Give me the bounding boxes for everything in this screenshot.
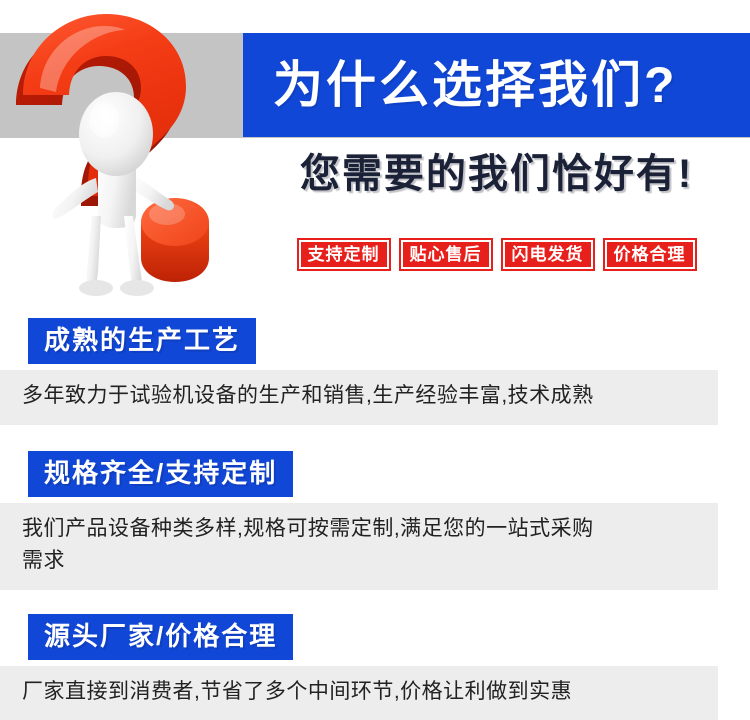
feature-body-factory-price: 厂家直接到消费者,节省了多个中间环节,价格让利做到实惠 [0, 666, 718, 720]
badge-after-sales: 贴心售后 [399, 238, 493, 271]
hero-banner: 为什么选择我们? [243, 33, 750, 137]
badge-custom-support: 支持定制 [297, 238, 391, 271]
feature-section-specifications: 规格齐全/支持定制 我们产品设备种类多样,规格可按需定制,满足您的一站式采购 需… [0, 451, 750, 590]
feature-sections: 成熟的生产工艺 多年致力于试验机设备的生产和销售,生产经验丰富,技术成熟 规格齐… [0, 318, 750, 720]
question-mark-dot-shape [141, 198, 209, 282]
feature-section-craftsmanship: 成熟的生产工艺 多年致力于试验机设备的生产和销售,生产经验丰富,技术成熟 [0, 318, 750, 425]
feature-heading-specifications: 规格齐全/支持定制 [28, 451, 293, 497]
feature-body-line: 需求 [22, 545, 718, 578]
feature-heading-factory-price: 源头厂家/价格合理 [28, 614, 293, 660]
section-spacer [0, 425, 750, 451]
feature-body-line: 厂家直接到消费者,节省了多个中间环节,价格让利做到实惠 [22, 676, 718, 709]
promo-banner-page: 为什么选择我们? 您需要的我们恰好有! 支持定制 贴心售后 闪电发货 价格合理 … [0, 0, 750, 697]
feature-body-craftsmanship: 多年致力于试验机设备的生产和销售,生产经验丰富,技术成熟 [0, 370, 718, 425]
feature-body-line: 我们产品设备种类多样,规格可按需定制,满足您的一站式采购 [22, 513, 718, 546]
section-spacer [0, 590, 750, 614]
hero-section: 为什么选择我们? 您需要的我们恰好有! 支持定制 贴心售后 闪电发货 价格合理 [0, 0, 750, 300]
badge-fair-price: 价格合理 [603, 238, 697, 271]
hero-banner-title: 为什么选择我们? [243, 60, 678, 110]
badge-row: 支持定制 贴心售后 闪电发货 价格合理 [243, 238, 750, 271]
question-mark-mascot-icon [0, 0, 250, 300]
badge-fast-shipping: 闪电发货 [501, 238, 595, 271]
hero-subtitle: 您需要的我们恰好有! [243, 152, 750, 196]
feature-heading-craftsmanship: 成熟的生产工艺 [28, 318, 256, 364]
feature-section-factory-price: 源头厂家/价格合理 厂家直接到消费者,节省了多个中间环节,价格让利做到实惠 [0, 614, 750, 720]
feature-body-line: 多年致力于试验机设备的生产和销售,生产经验丰富,技术成熟 [22, 380, 718, 413]
feature-body-specifications: 我们产品设备种类多样,规格可按需定制,满足您的一站式采购 需求 [0, 503, 718, 590]
